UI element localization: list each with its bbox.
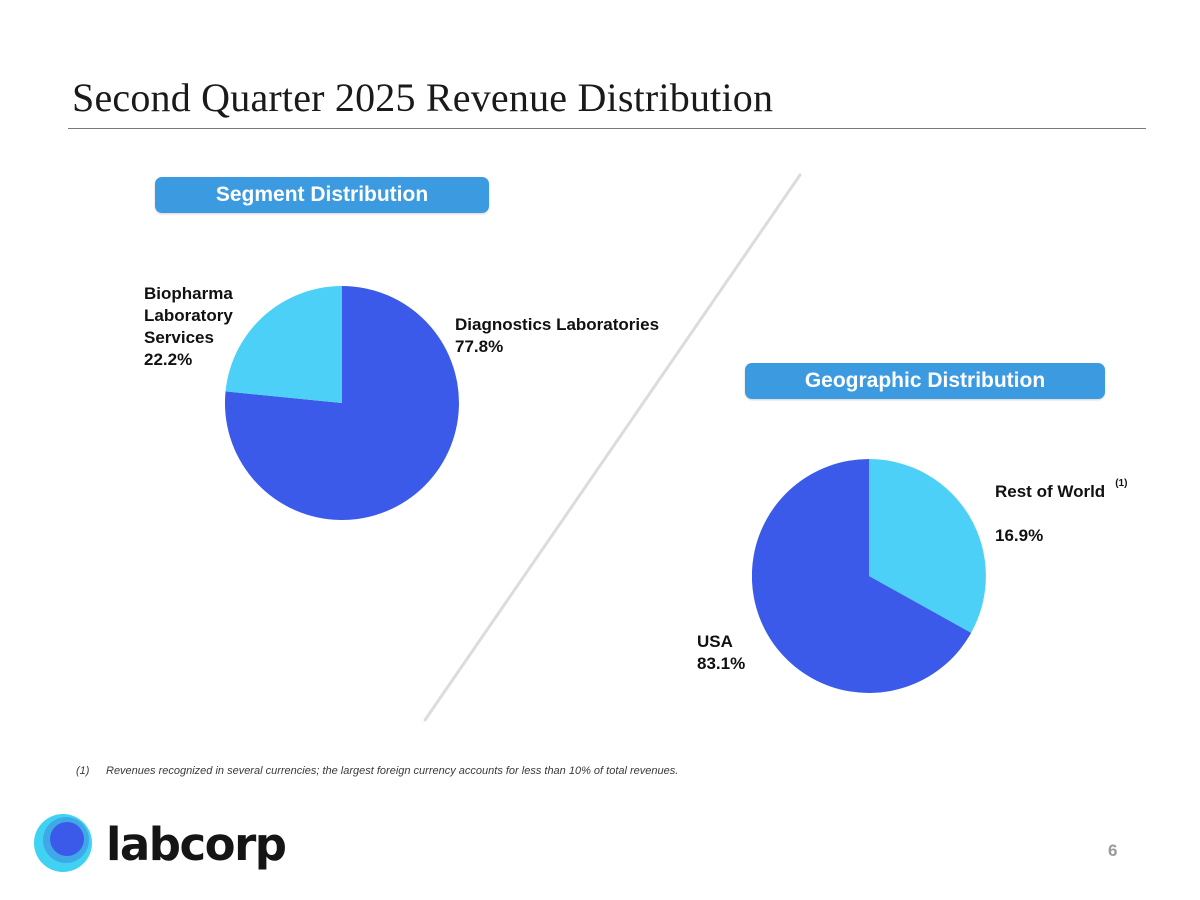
geographic-distribution-banner-label: Geographic Distribution bbox=[805, 369, 1045, 393]
footnote-number: (1) bbox=[76, 765, 106, 777]
labcorp-wordmark: labcorp bbox=[106, 822, 286, 867]
pie-label-rest-of-world-name: Rest of World bbox=[995, 481, 1105, 503]
geographic-distribution-banner: Geographic Distribution bbox=[745, 363, 1105, 399]
slide: Second Quarter 2025 Revenue Distribution… bbox=[0, 0, 1200, 900]
page-number: 6 bbox=[1108, 841, 1117, 861]
segment-distribution-pie-chart bbox=[225, 286, 459, 525]
labcorp-logo: labcorp bbox=[33, 810, 286, 874]
pie-slice-biopharma-laboratory-services bbox=[226, 286, 342, 403]
footnote-reference-marker: (1) bbox=[1115, 478, 1127, 489]
footnote-text: Revenues recognized in several currencie… bbox=[106, 765, 678, 777]
pie-label-rest-of-world-value: 16.9% bbox=[995, 525, 1043, 547]
geographic-distribution-pie-chart bbox=[752, 459, 986, 698]
segment-distribution-banner: Segment Distribution bbox=[155, 177, 489, 213]
pie-label-biopharma-laboratory-services: Biopharma Laboratory Services 22.2% bbox=[144, 283, 233, 371]
pie-label-rest-of-world: Rest of World(1) 16.9% bbox=[995, 459, 1127, 547]
page-title: Second Quarter 2025 Revenue Distribution bbox=[72, 74, 773, 121]
labcorp-logo-mark-icon bbox=[33, 812, 93, 872]
title-divider-rule bbox=[68, 128, 1146, 129]
pie-label-usa: USA 83.1% bbox=[697, 631, 745, 675]
pie-label-diagnostics-laboratories: Diagnostics Laboratories 77.8% bbox=[455, 314, 659, 358]
segment-distribution-banner-label: Segment Distribution bbox=[216, 183, 428, 207]
footnote: (1)Revenues recognized in several curren… bbox=[76, 765, 678, 777]
